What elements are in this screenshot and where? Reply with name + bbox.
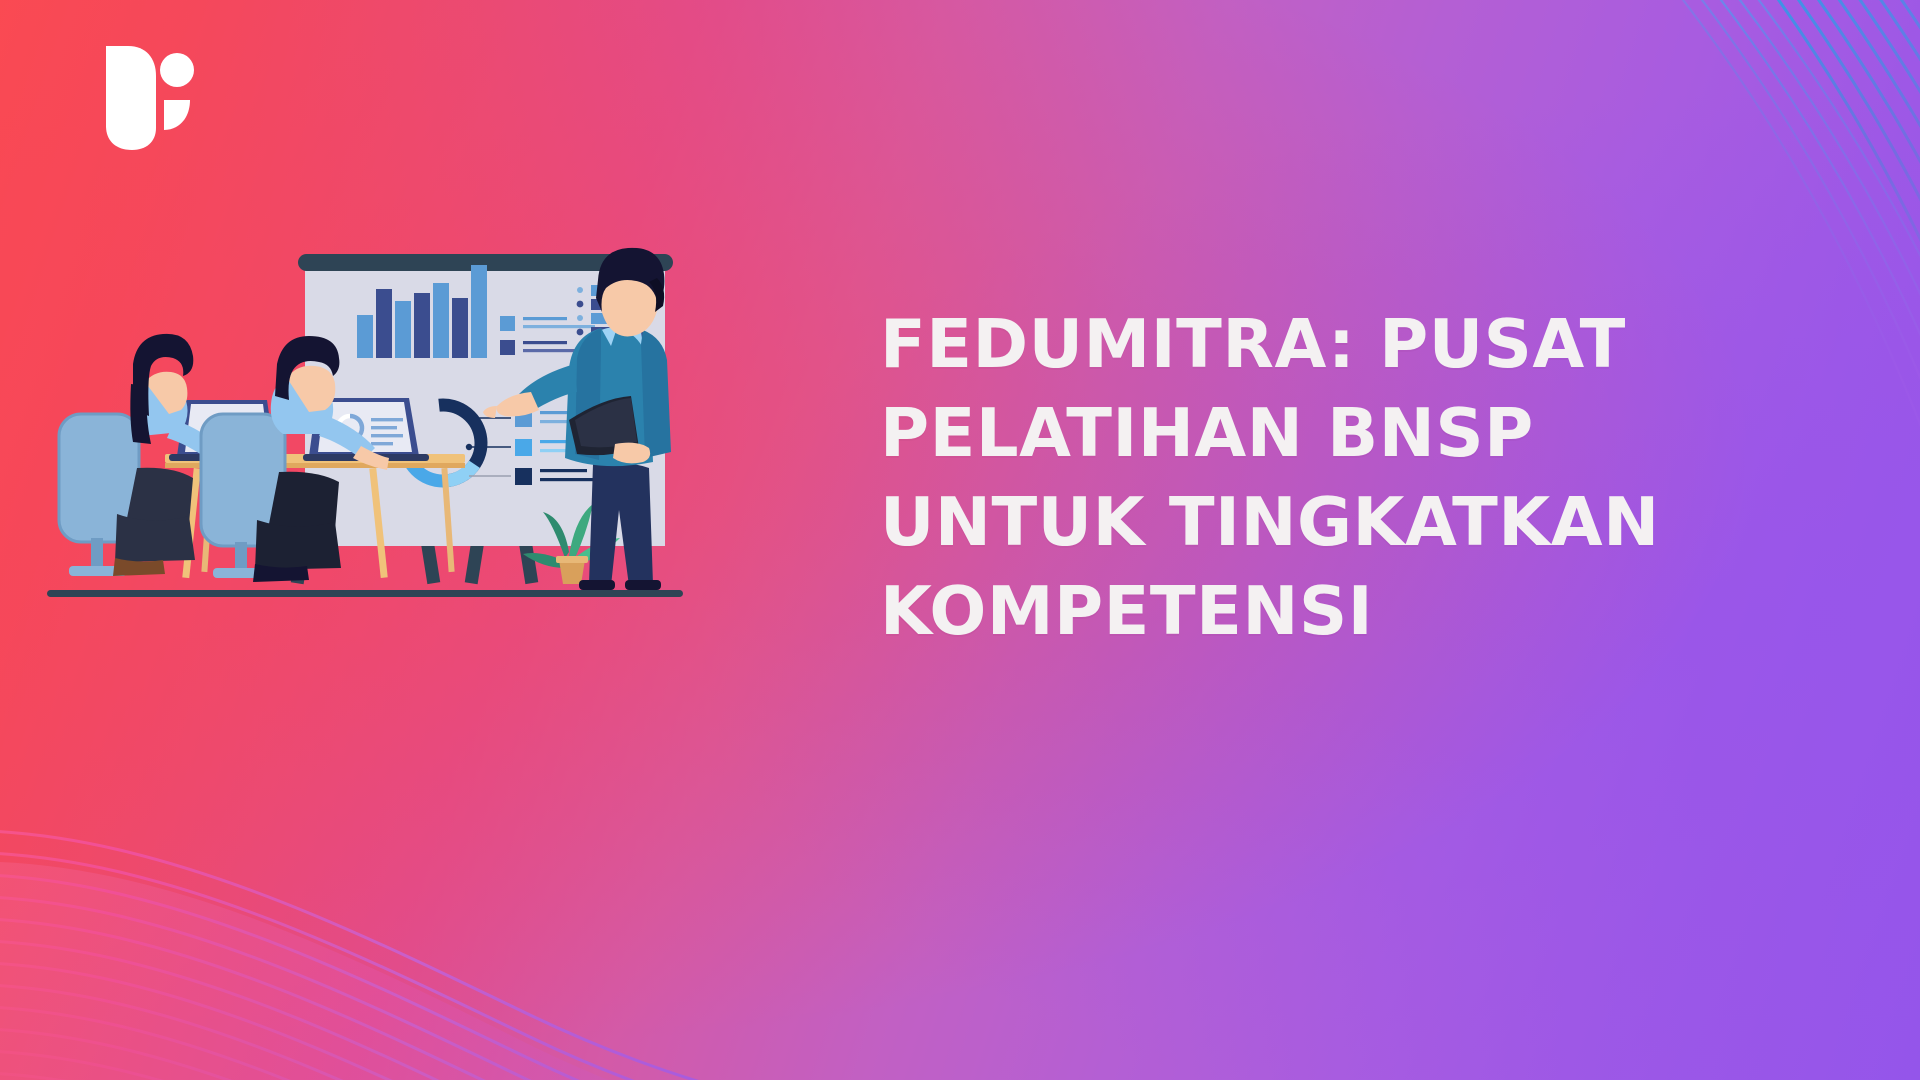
headline-line-3: UNTUK TINGKATKAN (880, 478, 1780, 567)
fedumitra-logo-icon (98, 42, 194, 152)
headline-line-2: PELATIHAN BNSP (880, 389, 1780, 478)
headline-line-4: KOMPETENSI (880, 567, 1780, 656)
floor-line (47, 590, 683, 597)
brand-logo[interactable] (98, 42, 194, 152)
presentation-illustration (45, 238, 685, 608)
headline-line-1: FEDUMITRA: PUSAT (880, 300, 1780, 389)
illustration-svg (45, 238, 685, 608)
banner-canvas: FEDUMITRA: PUSAT PELATIHAN BNSP UNTUK TI… (0, 0, 1920, 1080)
headline: FEDUMITRA: PUSAT PELATIHAN BNSP UNTUK TI… (880, 300, 1780, 656)
